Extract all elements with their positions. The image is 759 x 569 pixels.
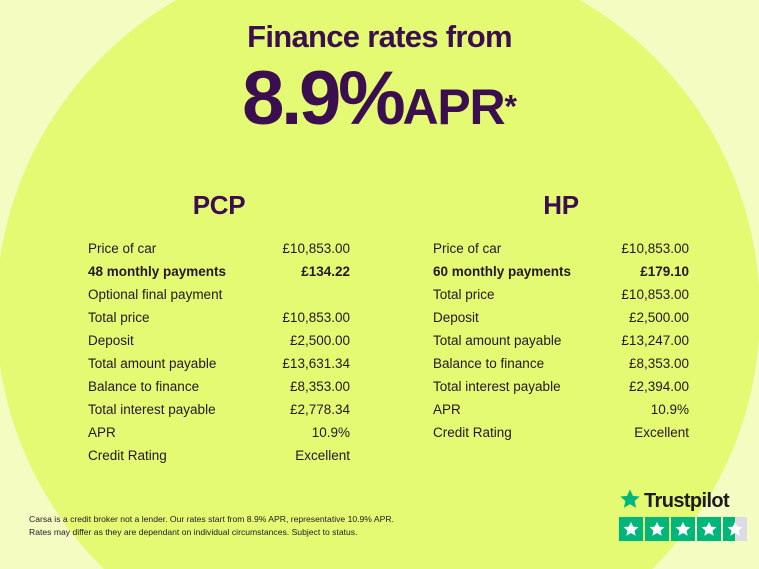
- row-label: Optional final payment: [88, 283, 222, 306]
- apr-unit-label: APR: [403, 79, 505, 135]
- row-label: Total amount payable: [433, 329, 561, 352]
- table-row: 60 monthly payments£179.10: [433, 260, 689, 283]
- apr-headline: 8.9%APR*: [0, 52, 759, 137]
- table-pcp-title: PCP: [88, 190, 350, 221]
- trustpilot-full-star-icon: [645, 517, 669, 541]
- trustpilot-brand: Trustpilot: [619, 489, 747, 513]
- trustpilot-full-star-icon: [697, 517, 721, 541]
- table-row: Total interest payable£2,778.34: [88, 398, 350, 421]
- table-pcp-rows: Price of car£10,853.0048 monthly payment…: [88, 237, 350, 467]
- table-row: 48 monthly payments£134.22: [88, 260, 350, 283]
- table-row: Total interest payable£2,394.00: [433, 375, 689, 398]
- row-value: Excellent: [634, 421, 689, 444]
- row-label: Credit Rating: [88, 444, 167, 467]
- row-label: Deposit: [433, 306, 479, 329]
- table-row: APR10.9%: [88, 421, 350, 444]
- row-value: £10,853.00: [621, 283, 689, 306]
- trustpilot-half-star-icon: [723, 517, 747, 541]
- table-row: Price of car£10,853.00: [433, 237, 689, 260]
- row-value: £10,853.00: [621, 237, 689, 260]
- row-label: 48 monthly payments: [88, 260, 226, 283]
- header-block: Finance rates from 8.9%APR*: [0, 0, 759, 137]
- row-label: 60 monthly payments: [433, 260, 571, 283]
- table-row: Balance to finance£8,353.00: [433, 352, 689, 375]
- row-label: Total interest payable: [88, 398, 216, 421]
- table-pcp: PCP Price of car£10,853.0048 monthly pay…: [88, 190, 350, 467]
- row-value: 10.9%: [651, 398, 689, 421]
- trustpilot-wordmark: Trustpilot: [644, 491, 729, 511]
- row-label: APR: [433, 398, 461, 421]
- trustpilot-full-star-icon: [671, 517, 695, 541]
- row-label: Total interest payable: [433, 375, 561, 398]
- row-value: £10,853.00: [282, 306, 350, 329]
- table-row: APR10.9%: [433, 398, 689, 421]
- row-label: Price of car: [88, 237, 156, 260]
- table-row: Optional final payment: [88, 283, 350, 306]
- disclaimer-line-2: Rates may differ as they are dependant o…: [29, 526, 449, 539]
- row-value: £2,778.34: [290, 398, 350, 421]
- row-label: Total price: [433, 283, 495, 306]
- trustpilot-full-star-icon: [619, 517, 643, 541]
- row-label: Price of car: [433, 237, 501, 260]
- apr-asterisk: *: [504, 89, 516, 125]
- row-label: Total amount payable: [88, 352, 216, 375]
- row-value: £13,247.00: [621, 329, 689, 352]
- row-value: £8,353.00: [290, 375, 350, 398]
- table-row: Deposit£2,500.00: [88, 329, 350, 352]
- row-label: Deposit: [88, 329, 134, 352]
- row-label: Total price: [88, 306, 150, 329]
- row-value: £179.10: [640, 260, 689, 283]
- trustpilot-star-icon: [619, 488, 641, 515]
- row-value: 10.9%: [312, 421, 350, 444]
- row-value: £10,853.00: [282, 237, 350, 260]
- row-label: Balance to finance: [433, 352, 544, 375]
- row-label: Credit Rating: [433, 421, 512, 444]
- row-label: Balance to finance: [88, 375, 199, 398]
- row-value: £8,353.00: [629, 352, 689, 375]
- table-row: Credit RatingExcellent: [88, 444, 350, 467]
- disclaimer-line-1: Carsa is a credit broker not a lender. O…: [29, 513, 449, 526]
- table-row: Total amount payable£13,631.34: [88, 352, 350, 375]
- table-row: Total price£10,853.00: [88, 306, 350, 329]
- apr-rate-value: 8.9%: [242, 56, 402, 141]
- disclaimer-text: Carsa is a credit broker not a lender. O…: [29, 513, 449, 540]
- row-label: APR: [88, 421, 116, 444]
- table-row: Credit RatingExcellent: [433, 421, 689, 444]
- table-row: Price of car£10,853.00: [88, 237, 350, 260]
- infographic-canvas: Finance rates from 8.9%APR* PCP Price of…: [0, 0, 759, 569]
- row-value: £2,394.00: [629, 375, 689, 398]
- row-value: £2,500.00: [290, 329, 350, 352]
- row-value: £134.22: [301, 260, 350, 283]
- table-row: Total price£10,853.00: [433, 283, 689, 306]
- table-row: Total amount payable£13,247.00: [433, 329, 689, 352]
- trustpilot-badge[interactable]: Trustpilot: [619, 489, 747, 541]
- table-hp-rows: Price of car£10,853.0060 monthly payment…: [433, 237, 689, 444]
- table-row: Deposit£2,500.00: [433, 306, 689, 329]
- row-value: Excellent: [295, 444, 350, 467]
- row-value: £13,631.34: [282, 352, 350, 375]
- trustpilot-star-rating: [619, 517, 747, 541]
- table-hp-title: HP: [433, 190, 689, 221]
- table-hp: HP Price of car£10,853.0060 monthly paym…: [433, 190, 689, 444]
- page-title: Finance rates from: [0, 0, 759, 52]
- table-row: Balance to finance£8,353.00: [88, 375, 350, 398]
- row-value: £2,500.00: [629, 306, 689, 329]
